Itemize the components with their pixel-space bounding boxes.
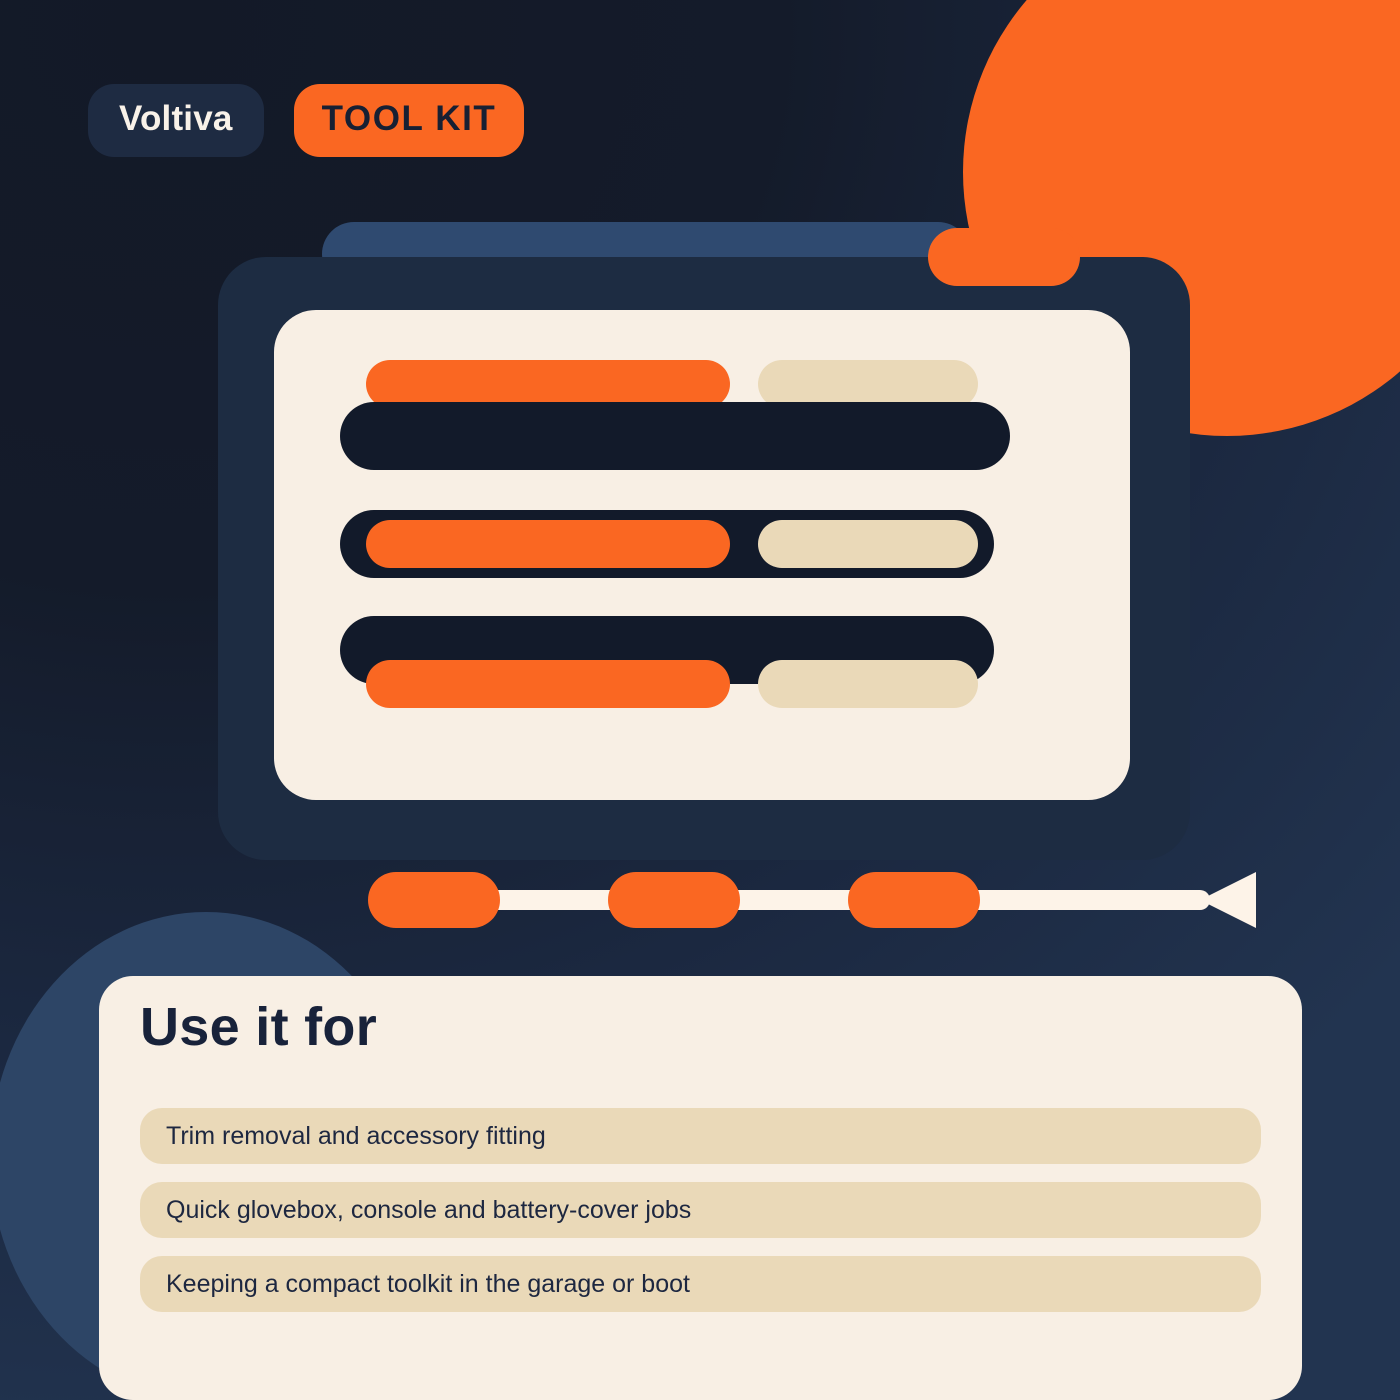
list-item-label: Quick glovebox, console and battery-cove… — [166, 1196, 691, 1225]
header-badges: Voltiva TOOL KIT — [88, 84, 524, 157]
illustration-pill-orange-2 — [366, 520, 730, 568]
illustration-pill-tan-3 — [758, 660, 978, 708]
use-it-for-list: Trim removal and accessory fitting Quick… — [140, 1108, 1261, 1330]
brand-badge: Voltiva — [88, 84, 264, 157]
list-item-label: Keeping a compact toolkit in the garage … — [166, 1270, 690, 1299]
illustration-pill-orange-1 — [366, 360, 730, 408]
list-item: Quick glovebox, console and battery-cove… — [140, 1182, 1261, 1238]
toolkit-badge: TOOL KIT — [294, 84, 525, 157]
illustration-orange-tab — [928, 228, 1080, 286]
illustration-dark-bar-1 — [340, 402, 1010, 470]
illustration-pill-orange-3 — [366, 660, 730, 708]
poster-canvas: Voltiva TOOL KIT — [0, 0, 1400, 1400]
list-item: Keeping a compact toolkit in the garage … — [140, 1256, 1261, 1312]
illustration-pill-tan-2 — [758, 520, 978, 568]
illustration-connector — [0, 860, 1400, 940]
list-item: Trim removal and accessory fitting — [140, 1108, 1261, 1164]
use-it-for-title: Use it for — [140, 996, 377, 1058]
list-item-label: Trim removal and accessory fitting — [166, 1122, 546, 1151]
illustration-cream-card — [274, 310, 1130, 800]
illustration-pill-tan-1 — [758, 360, 978, 408]
